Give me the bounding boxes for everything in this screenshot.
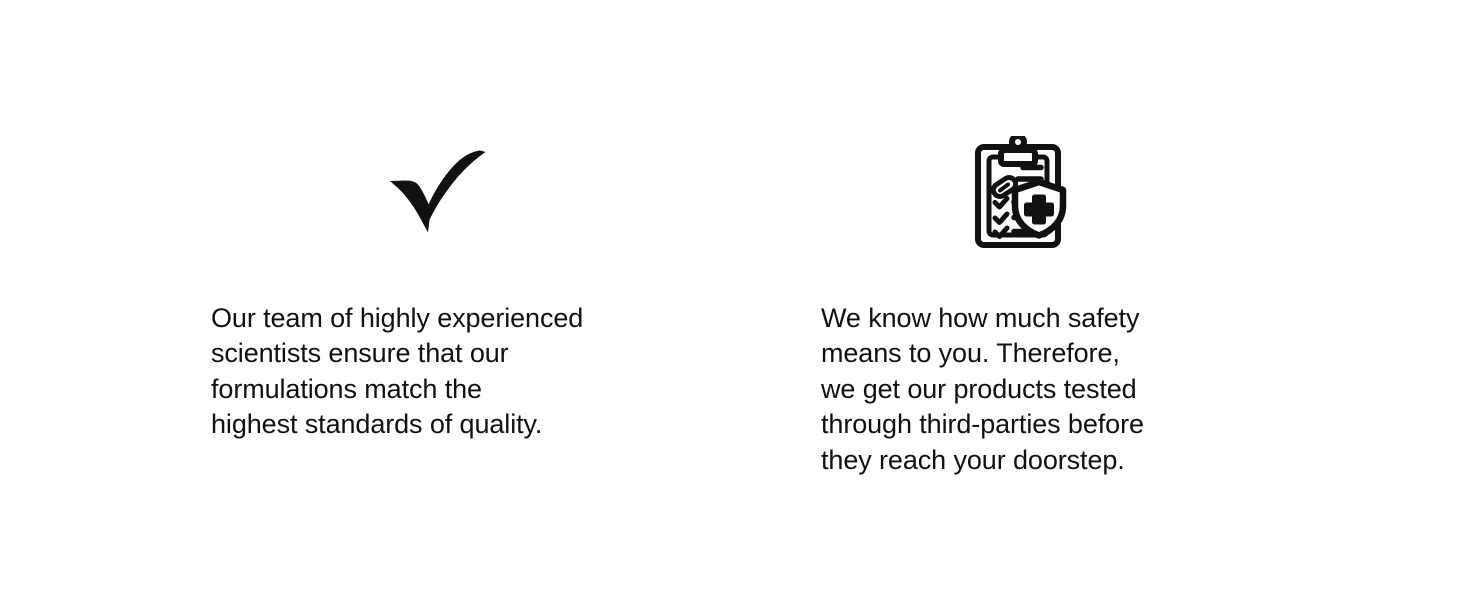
- feature-body-safety: We know how much safety means to you. Th…: [821, 301, 1251, 478]
- feature-blocks-page: Our team of highly experienced scientist…: [0, 0, 1464, 600]
- feature-body-quality: Our team of highly experienced scientist…: [211, 301, 681, 443]
- clipboard-shield-icon: [974, 136, 1070, 249]
- feature-block-safety: We know how much safety means to you. Th…: [732, 0, 1464, 600]
- checkmark-icon: [388, 150, 488, 236]
- feature-block-quality: Our team of highly experienced scientist…: [0, 0, 732, 600]
